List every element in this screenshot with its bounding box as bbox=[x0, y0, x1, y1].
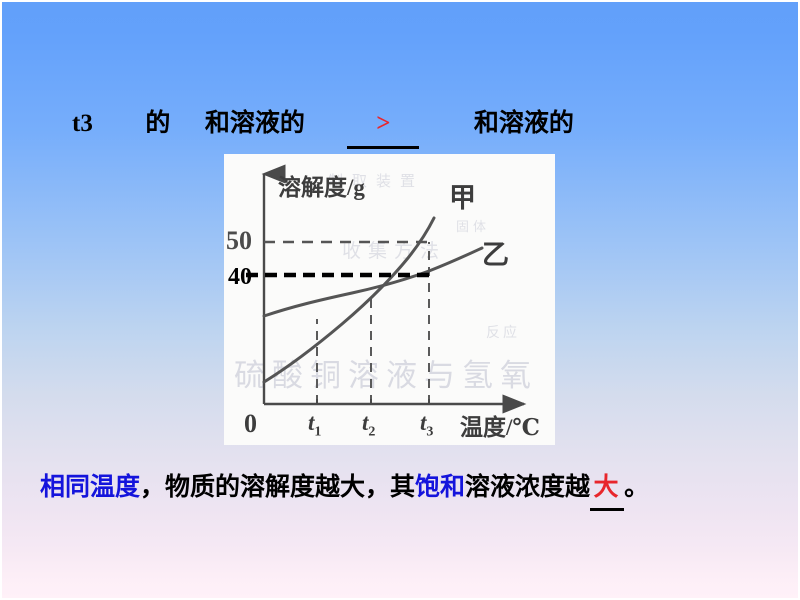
top-question-line: t3 的 和溶液的 > 和溶液的 bbox=[72, 102, 772, 146]
overlay-gridline-40-svg bbox=[224, 154, 555, 445]
conclusion-blue-1: 相同温度 bbox=[40, 474, 140, 501]
bottom-conclusion-line: 相同温度，物质的溶解度越大，其饱和溶液浓度越大。 bbox=[40, 468, 780, 508]
answer-blank-greater-than[interactable]: > bbox=[347, 102, 419, 149]
y-tick-40-label: 40 bbox=[228, 265, 252, 289]
conclusion-black-3: 。 bbox=[624, 474, 649, 501]
conclusion-black-2: 溶液浓度越 bbox=[465, 474, 590, 501]
he-rongye-de-label-2: 和溶液的 bbox=[474, 102, 574, 146]
slide-canvas: t3 的 和溶液的 > 和溶液的 固体 制取装置 收集方法 反应 硫酸铜溶液与氢… bbox=[0, 0, 800, 600]
conclusion-blue-2: 饱和 bbox=[415, 474, 465, 501]
he-rongye-de-label-1: 和溶液的 bbox=[205, 102, 305, 146]
conclusion-black-1: ，物质的溶解度越大，其 bbox=[140, 474, 415, 501]
de-label-1: 的 bbox=[145, 102, 170, 146]
answer-blank-da[interactable]: 大 bbox=[590, 468, 624, 511]
solubility-curve-figure: 固体 制取装置 收集方法 反应 硫酸铜溶液与氢氧 bbox=[224, 154, 555, 445]
t3-label: t3 bbox=[72, 102, 93, 146]
